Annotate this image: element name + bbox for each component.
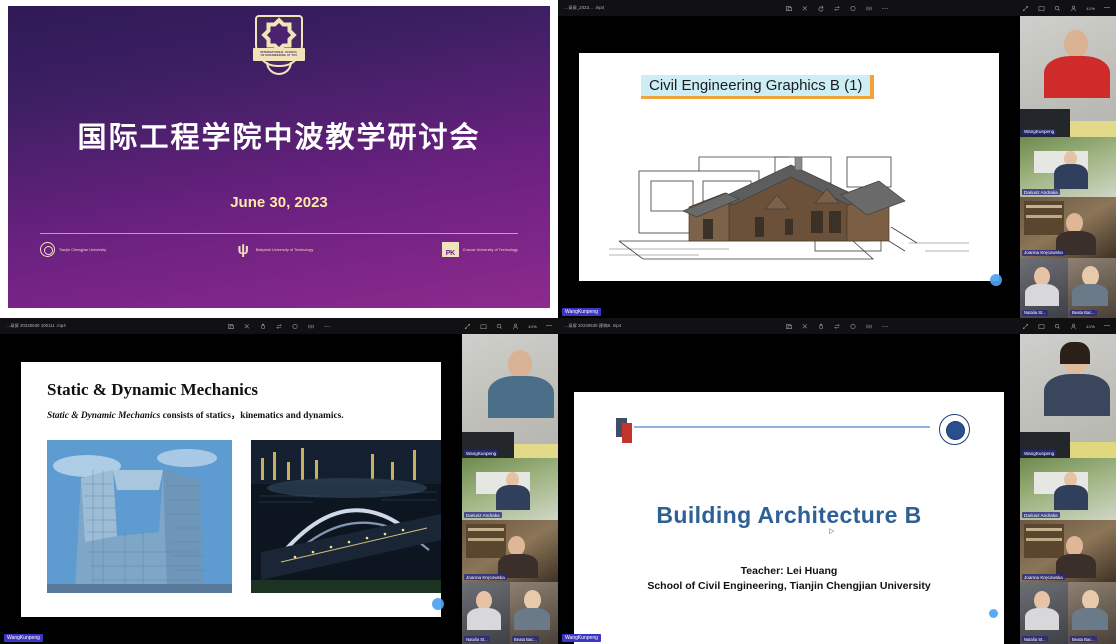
tcu-seal-icon: [40, 242, 55, 257]
laser-pointer-dot: [990, 274, 1002, 286]
slide-title: Civil Engineering Graphics B (1): [641, 75, 874, 99]
logo-tianjin-chengjian: Tianjin Chengjian University: [40, 242, 106, 257]
person-icon[interactable]: [512, 323, 519, 330]
video-tile-beata[interactable]: Beata Bac...: [1068, 258, 1116, 318]
slide-body-rest: consists of statics，kinematics and dynam…: [160, 411, 343, 421]
player-toolbar[interactable]: [786, 323, 889, 330]
panel-mechanics-recording: …录屏 20230630 100111 .mp4 41% —: [0, 318, 558, 644]
mouse-cursor-icon: ▷: [829, 527, 835, 535]
slide-title: Static & Dynamic Mechanics: [47, 380, 258, 400]
speed-icon[interactable]: [866, 323, 873, 330]
crest-band-line2: OF ENGINEERING AT TCU: [261, 55, 298, 58]
presenter-nametag: WangKunpeng: [562, 634, 601, 642]
loop-icon[interactable]: [276, 323, 283, 330]
player-toolbar[interactable]: [228, 323, 331, 330]
school-line: School of Civil Engineering, Tianjin Che…: [574, 580, 1004, 592]
participant-filmstrip[interactable]: WangKunpeng Dariusz Andraka Joanna Kręco…: [1020, 334, 1116, 644]
tile-name: Beata Bac...: [1070, 636, 1097, 642]
seminar-heading: 国际工程学院中波教学研讨会: [8, 114, 550, 156]
video-tile-beata[interactable]: Beata Bac...: [1068, 582, 1116, 644]
video-tile-dariusz[interactable]: Dariusz Andraka: [462, 458, 558, 520]
player-window-controls[interactable]: 41% —: [1022, 323, 1110, 330]
tile-name: Beata Bac...: [1070, 310, 1097, 316]
video-tile-joanna[interactable]: Joanna Kręcowska: [1020, 520, 1116, 582]
player-titlebar: …录屏 20230630 建筑B .mp4 41% —: [558, 318, 1116, 334]
logo-label: Cracow University of Technology: [463, 248, 518, 252]
zoom-level-label: 41%: [528, 324, 537, 329]
panel-seminar-title-slide: INTERNATIONAL SCHOOL OF ENGINEERING AT T…: [0, 0, 558, 318]
search-icon[interactable]: [1054, 5, 1061, 12]
shared-screen-stage: Building Architecture B ▷ Teacher: Lei H…: [558, 334, 1020, 644]
picture-in-picture-icon[interactable]: [480, 323, 487, 330]
image-night-bridge: [251, 440, 441, 593]
participant-filmstrip[interactable]: WangKunpeng Dariusz Andraka Joanna Kręco…: [462, 334, 558, 644]
tile-name: Natalia St...: [1022, 310, 1048, 316]
player-filename: …录屏 20230630 建筑B .mp4: [558, 323, 621, 329]
rotate-icon[interactable]: [818, 5, 825, 12]
shared-screen-stage: Static & Dynamic Mechanics Static & Dyna…: [0, 334, 462, 644]
partner-logos: Tianjin Chengjian University ψ Bialystok…: [40, 242, 518, 257]
logo-label: Bialystok University of Technology: [256, 248, 314, 252]
player-titlebar: …录屏_2023… .mp4 41% —: [558, 0, 1116, 16]
panel-building-architecture-recording: …录屏 20230630 建筑B .mp4 41% —: [558, 318, 1116, 644]
tile-name: Joanna Kręcowska: [1022, 574, 1065, 580]
video-tile-pair[interactable]: Natalia St... Beata Bac...: [462, 582, 558, 644]
tile-name: Dariusz Andraka: [464, 512, 502, 518]
tile-name: Dariusz Andraka: [1022, 512, 1060, 518]
player-toolbar[interactable]: [786, 5, 889, 12]
picture-in-picture-icon[interactable]: [1038, 5, 1045, 12]
slide-title: Building Architecture B: [574, 502, 1004, 529]
player-filename: …录屏 20230630 100111 .mp4: [0, 323, 66, 329]
tile-name: WangKunpeng: [1022, 129, 1056, 135]
player-window-controls[interactable]: 41% —: [1022, 5, 1110, 12]
slide-body-italic: Static & Dynamic Mechanics: [47, 411, 160, 421]
video-tile-wangkunpeng[interactable]: WangKunpeng: [1020, 16, 1116, 137]
slide-static-dynamic-mechanics: Static & Dynamic Mechanics Static & Dyna…: [21, 362, 441, 617]
loop-icon[interactable]: [834, 323, 841, 330]
tile-name: Joanna Kręcowska: [1022, 250, 1065, 256]
cut-icon[interactable]: [244, 323, 251, 330]
more-icon[interactable]: [324, 323, 331, 330]
video-tile-natalia[interactable]: Natalia St...: [1020, 258, 1068, 318]
picture-in-picture-icon[interactable]: [1038, 323, 1045, 330]
header-rule: [634, 426, 930, 428]
screenshot-icon[interactable]: [786, 5, 793, 12]
search-icon[interactable]: [1054, 323, 1061, 330]
loop-icon[interactable]: [834, 5, 841, 12]
player-filename: …录屏_2023… .mp4: [558, 5, 604, 11]
image-cctv-building: [47, 440, 232, 593]
expand-icon[interactable]: [1022, 323, 1029, 330]
accent-square-red: [622, 423, 632, 443]
speed-icon[interactable]: [308, 323, 315, 330]
pk-logo-icon: PK: [442, 242, 459, 257]
video-tile-joanna[interactable]: Joanna Kręcowska: [1020, 197, 1116, 257]
zoom-level-label: 41%: [1086, 324, 1095, 329]
person-icon[interactable]: [1070, 323, 1077, 330]
screenshot-icon[interactable]: [786, 323, 793, 330]
rotate-icon[interactable]: [260, 323, 267, 330]
more-icon[interactable]: [882, 323, 889, 330]
video-tile-beata[interactable]: Beata Bac...: [510, 582, 558, 644]
screenshot-icon[interactable]: [228, 323, 235, 330]
video-tile-wangkunpeng[interactable]: WangKunpeng: [462, 334, 558, 458]
video-tile-joanna[interactable]: Joanna Kręcowska: [462, 520, 558, 582]
video-tile-pair[interactable]: Natalia St... Beata Bac...: [1020, 258, 1116, 318]
player-titlebar: …录屏 20230630 100111 .mp4 41% —: [0, 318, 558, 334]
video-tile-wangkunpeng[interactable]: WangKunpeng: [1020, 334, 1116, 458]
slide-body: Static & Dynamic Mechanics consists of s…: [47, 410, 415, 423]
search-icon[interactable]: [496, 323, 503, 330]
player-window-controls[interactable]: 41% —: [464, 323, 552, 330]
participant-filmstrip[interactable]: WangKunpeng Dariusz Andraka Joanna Kręco…: [1020, 16, 1116, 318]
logo-label: Tianjin Chengjian University: [59, 248, 106, 252]
presenter-nametag: WangKunpeng: [4, 634, 43, 642]
speed-icon[interactable]: [866, 5, 873, 12]
zoom-level-label: 41%: [1086, 6, 1095, 11]
school-crest-icon: INTERNATIONAL SCHOOL OF ENGINEERING AT T…: [251, 15, 307, 81]
panel-civil-graphics-recording: …录屏_2023… .mp4 41% —: [558, 0, 1116, 318]
house-blueprint-image: [579, 123, 999, 278]
cut-icon[interactable]: [802, 323, 809, 330]
video-tile-dariusz[interactable]: Dariusz Andraka: [1020, 458, 1116, 520]
tile-name: Natalia St...: [464, 636, 490, 642]
cut-icon[interactable]: [802, 5, 809, 12]
tile-name: Beata Bac...: [512, 636, 539, 642]
screenshot-collage: INTERNATIONAL SCHOOL OF ENGINEERING AT T…: [0, 0, 1116, 644]
slide-building-architecture: Building Architecture B ▷ Teacher: Lei H…: [574, 392, 1004, 644]
tcu-seal-icon: [939, 414, 970, 445]
tile-name: WangKunpeng: [1022, 450, 1056, 456]
purple-title-slide: INTERNATIONAL SCHOOL OF ENGINEERING AT T…: [8, 6, 550, 308]
snapshot-icon[interactable]: [850, 323, 857, 330]
video-tile-natalia[interactable]: Natalia St...: [462, 582, 510, 644]
minimize-icon[interactable]: —: [546, 323, 552, 329]
divider: [40, 233, 518, 234]
video-tile-dariusz[interactable]: Dariusz Andraka: [1020, 137, 1116, 197]
snapshot-icon[interactable]: [292, 323, 299, 330]
person-icon[interactable]: [1070, 5, 1077, 12]
minimize-icon[interactable]: —: [1104, 5, 1110, 11]
logo-bialystok: ψ Bialystok University of Technology: [235, 242, 314, 257]
seminar-date: June 30, 2023: [8, 194, 550, 211]
player-body: Static & Dynamic Mechanics Static & Dyna…: [0, 334, 558, 644]
shared-screen-stage: Civil Engineering Graphics B (1): [558, 16, 1020, 318]
video-tile-natalia[interactable]: Natalia St...: [1020, 582, 1068, 644]
more-icon[interactable]: [882, 5, 889, 12]
expand-icon[interactable]: [464, 323, 471, 330]
laser-pointer-dot: [432, 598, 444, 610]
laser-pointer-dot: [989, 609, 998, 618]
teacher-line: Teacher: Lei Huang: [574, 565, 1004, 577]
presenter-nametag: WangKunpeng: [562, 308, 601, 316]
logo-cracow: PK Cracow University of Technology: [442, 242, 518, 257]
snapshot-icon[interactable]: [850, 5, 857, 12]
video-tile-pair[interactable]: Natalia St... Beata Bac...: [1020, 582, 1116, 644]
minimize-icon[interactable]: —: [1104, 323, 1110, 329]
tile-name: WangKunpeng: [464, 450, 498, 456]
expand-icon[interactable]: [1022, 5, 1029, 12]
player-body: Civil Engineering Graphics B (1): [558, 16, 1116, 318]
tile-name: Dariusz Andraka: [1022, 189, 1060, 195]
player-body: Building Architecture B ▷ Teacher: Lei H…: [558, 334, 1116, 644]
rotate-icon[interactable]: [818, 323, 825, 330]
tile-name: Joanna Kręcowska: [464, 574, 507, 580]
slide-civil-graphics: Civil Engineering Graphics B (1): [579, 53, 999, 281]
tile-name: Natalia St...: [1022, 636, 1048, 642]
pb-logo-icon: ψ: [235, 242, 252, 257]
